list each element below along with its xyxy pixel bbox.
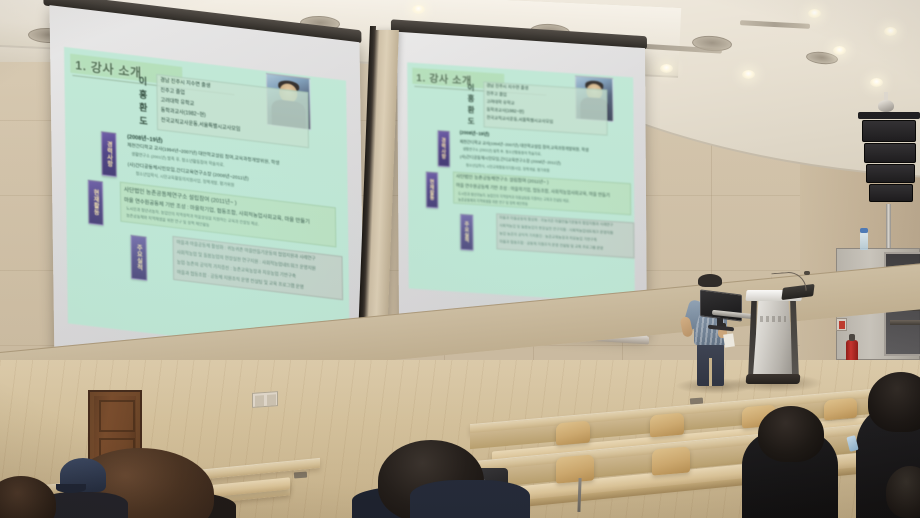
ceiling-downlight (742, 70, 755, 79)
podium-monitor (700, 292, 746, 326)
seat-back[interactable] (556, 454, 594, 483)
ceiling-downlight (808, 9, 821, 18)
cap-brim (56, 484, 86, 493)
section-badge-current-label: 현재활동 (89, 181, 103, 225)
ceiling-downlight (660, 64, 673, 73)
floor-outlet (294, 472, 307, 479)
presenter-glasses-icon (701, 285, 719, 289)
section-badge-results-label: 주요실적 (461, 215, 472, 250)
seat-back[interactable] (824, 398, 857, 421)
ceiling-downlight (870, 78, 883, 87)
section-badge-current: 현재활동 (88, 180, 104, 226)
lectern-logo (760, 316, 786, 322)
instructor-name-vertical: 이 흥 환 도 (465, 83, 476, 126)
instructor-name-vertical: 이 흥 환 도 (136, 76, 150, 128)
section-badge-results: 주요실적 (131, 235, 148, 281)
section-badge-career-label: 경력사항 (102, 132, 116, 176)
slide-right: 1. 강사 소개 이 흥 환 도 경남 진주시 지수면 출생 진주고 졸업 고려… (407, 62, 635, 303)
lectern-body (752, 296, 794, 378)
wall-switch-plate[interactable] (252, 391, 278, 408)
audience-head (868, 372, 920, 432)
section-badge-career: 경력사항 (438, 130, 450, 167)
ceiling-downlight (884, 27, 897, 36)
fire-equipment-sign (836, 318, 847, 331)
lecture-hall-photo: 1. 강사 소개 이 흥 환 도 경남 진주시 지수면 출생 진주고 졸업 고려… (0, 0, 920, 518)
section-badge-current-label: 현재활동 (427, 173, 437, 208)
audience-body (410, 480, 530, 518)
seat-back[interactable] (652, 446, 690, 475)
audience-head (886, 466, 920, 518)
slide-title: 1. 강사 소개 (416, 69, 472, 88)
lectern (742, 286, 804, 384)
section-badge-current: 현재활동 (426, 172, 438, 209)
seat-back[interactable] (650, 413, 684, 438)
speaker-support-pole (886, 204, 891, 250)
lectern-base (746, 374, 801, 384)
slide-left: 1. 강사 소개 이 흥 환 도 경남 진주시 지수면 출생 진주고 졸업 고려… (64, 47, 350, 357)
water-bottle (860, 232, 868, 250)
ceiling-downlight (833, 46, 846, 55)
presenter-leg-gap (709, 358, 712, 386)
audience-head (758, 406, 824, 462)
gooseneck-mic-head (804, 271, 810, 275)
seat-back[interactable] (556, 421, 590, 446)
wall-camera-icon (878, 92, 894, 112)
section-badge-career-label: 경력사항 (439, 131, 449, 166)
section-badge-results-label: 주요실적 (132, 236, 147, 280)
water-bottle-cap (860, 228, 868, 233)
section-badge-career: 경력사항 (101, 131, 117, 177)
presenter-papers (723, 333, 735, 347)
ceiling-downlight (412, 5, 425, 14)
section-badge-results: 주요실적 (460, 214, 473, 251)
